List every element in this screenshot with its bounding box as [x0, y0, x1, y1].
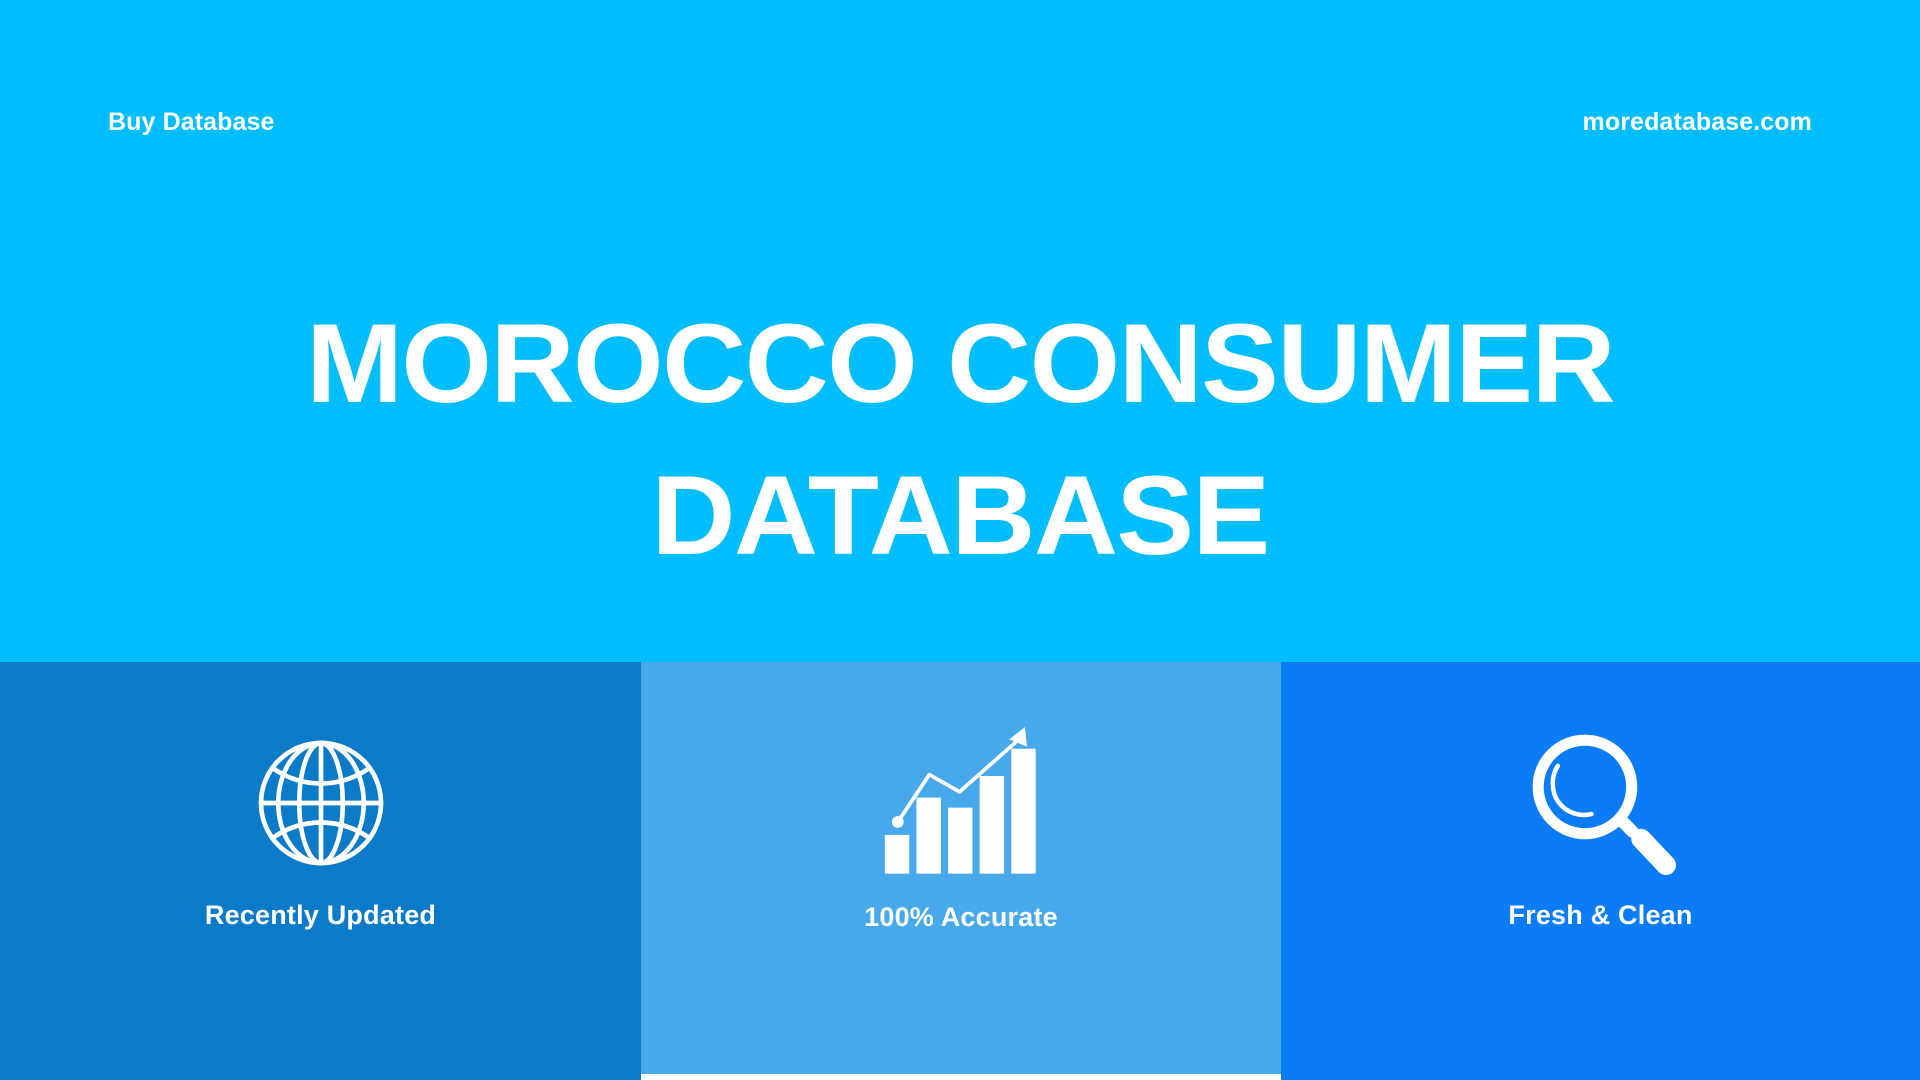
- site-url-label: moredatabase.com: [1583, 108, 1812, 137]
- feature-panel-accuracy: 100% Accurate: [641, 662, 1281, 1074]
- globe-icon: [246, 728, 396, 878]
- growth-bar-chart-icon: [882, 724, 1040, 874]
- brand-label: Buy Database: [108, 108, 275, 137]
- page-title: MOROCCO CONSUMER DATABASE: [0, 288, 1920, 592]
- feature-panel-label: Recently Updated: [205, 900, 436, 931]
- feature-panels: Recently Updated: [0, 662, 1920, 1080]
- feature-panel-label: Fresh & Clean: [1508, 900, 1692, 931]
- feature-panel-label: 100% Accurate: [864, 902, 1058, 933]
- feature-panel-fresh-clean: Fresh & Clean: [1281, 662, 1920, 1080]
- feature-panel-recently-updated: Recently Updated: [0, 662, 641, 1080]
- magnifier-icon: [1525, 728, 1677, 878]
- promo-banner: Buy Database moredatabase.com MOROCCO CO…: [0, 0, 1920, 1080]
- hero-section: Buy Database moredatabase.com MOROCCO CO…: [0, 0, 1920, 662]
